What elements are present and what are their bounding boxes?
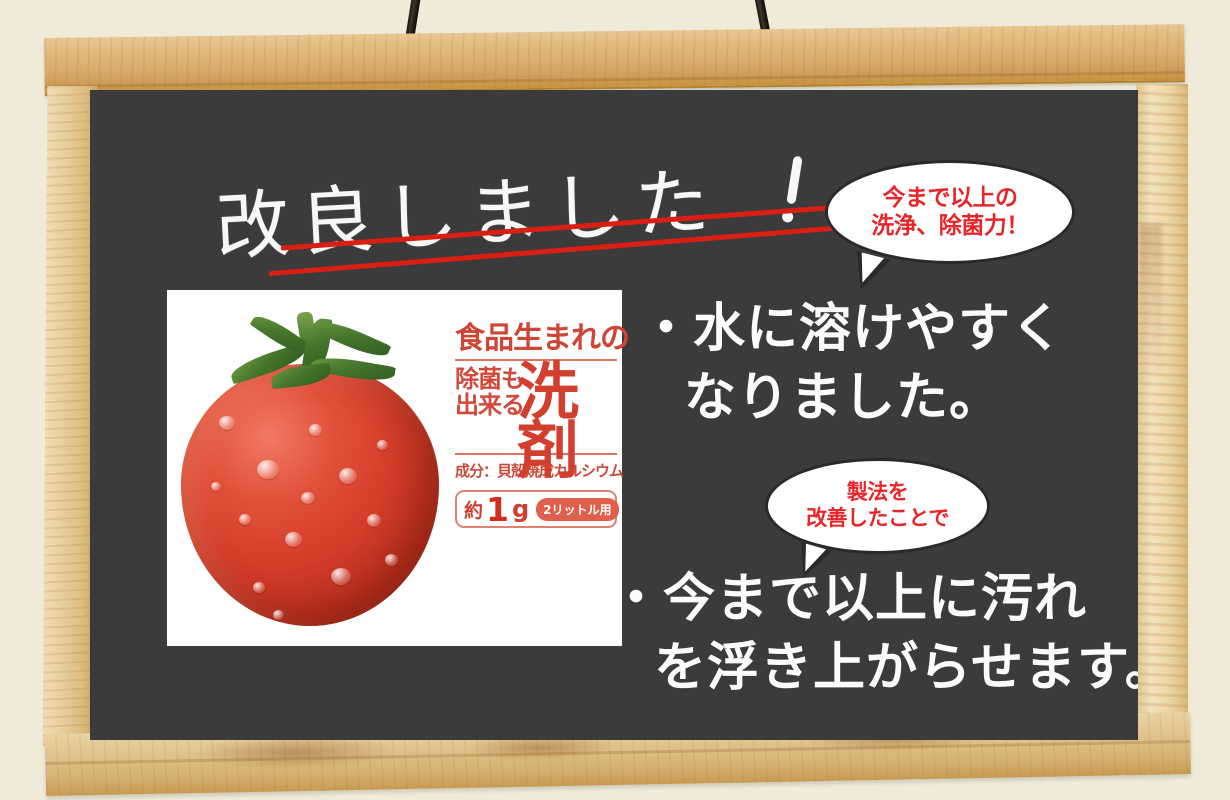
package-text-block: 食品生まれの 除菌も 出来る 洗剤 成分：貝殻焼成カルシウム 約 1 g 2リッ… bbox=[455, 324, 617, 528]
bubble-1-line-2: 洗浄、除菌力！ bbox=[871, 212, 1029, 240]
speech-bubble-1: 今まで以上の 洗浄、除菌力！ bbox=[825, 160, 1075, 264]
bubble-1-line-1: 今まで以上の bbox=[883, 184, 1018, 212]
dose-prefix: 約 bbox=[464, 496, 483, 523]
dose-volume-badge: 2リットル用 bbox=[536, 498, 618, 521]
package-dose-box: 約 1 g 2リットル用 bbox=[455, 490, 617, 528]
frame-top-rail bbox=[44, 24, 1185, 96]
package-subline-1: 除菌も bbox=[455, 367, 524, 393]
speech-bubble-2: 製法を 改善したことで bbox=[765, 458, 990, 554]
bubble-2-line-1: 製法を bbox=[847, 480, 909, 506]
package-headline: 食品生まれの bbox=[455, 324, 617, 354]
bullet-marker: ・ bbox=[640, 299, 693, 359]
package-product-word: 洗剤 bbox=[517, 363, 617, 481]
package-subline-group: 除菌も 出来る bbox=[455, 367, 524, 419]
bullet-marker: ・ bbox=[610, 569, 663, 629]
bullet-line-1: 今まで以上に汚れ bbox=[663, 569, 1087, 629]
feature-bullet-2: ・今まで以上に汚れ を浮き上がらせます。 bbox=[610, 565, 1138, 702]
chalkboard-surface: 改良しました bbox=[90, 90, 1138, 740]
bullet-line-2: なりました。 bbox=[684, 368, 1002, 428]
dose-unit: g bbox=[512, 495, 529, 523]
exclamation-mark-icon bbox=[786, 156, 802, 205]
frame-right-rail bbox=[1136, 84, 1188, 748]
package-subline-2: 出来る bbox=[455, 393, 524, 419]
tomato-calyx-icon bbox=[227, 310, 397, 420]
bubble-2-line-2: 改善したことで bbox=[806, 506, 949, 532]
dose-number: 1 bbox=[486, 493, 509, 526]
bullet-line-1: 水に溶けやすく bbox=[693, 299, 1064, 359]
bullet-line-2: を浮き上がらせます。 bbox=[654, 638, 1138, 698]
tomato-photo bbox=[175, 300, 445, 640]
product-package-image: 食品生まれの 除菌も 出来る 洗剤 成分：貝殻焼成カルシウム 約 1 g 2リッ… bbox=[167, 290, 622, 646]
chalkboard-sign: 改良しました bbox=[45, 38, 1190, 790]
bubble-tail-icon bbox=[848, 251, 891, 294]
feature-bullet-1: ・水に溶けやすく なりました。 bbox=[640, 295, 1064, 432]
